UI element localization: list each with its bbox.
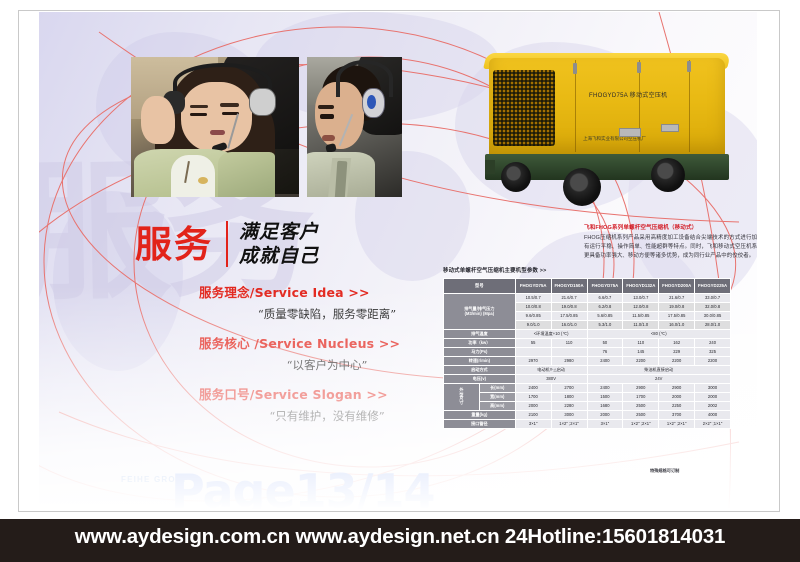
table-cell: 1800 [551,393,587,402]
table-cell: 2400 [587,357,623,366]
table-header-cell: FHOGYD132A [623,279,659,294]
decorative-arcs [39,12,757,510]
table-cell: 55 [515,339,551,348]
table-row-label: 接口管径 [444,420,516,429]
table-cell: 110 [623,339,659,348]
table-cell: 10.0/0.8 [515,303,551,312]
table-cell: 2×2" ;1×1" [695,420,731,429]
table-cell: 5.6/0.85 [587,312,623,321]
table-cell: 2400 [515,384,551,393]
table-cell: 2000 [515,402,551,411]
page-number: Page13/14 [171,464,434,510]
table-cell: 11.5/0.85 [623,312,659,321]
table-row-label: 功率（kw） [444,339,516,348]
table-cell: 2500 [623,402,659,411]
table-row-label: 宽(mm) [479,393,515,402]
table-cell: 4000 [695,411,731,420]
table-row: 排气温度<环境温度+10 (℃)<80 (℃) [444,330,731,339]
table-row-label: 重量(kg) [444,411,516,420]
service-item: 服务核心 /Service Nucleus >> “以客户为中心” [199,333,449,382]
table-cell: 3000 [551,411,587,420]
table-cell: 110 [551,339,587,348]
service-subtitle-line2: 成就自己 [239,245,319,267]
service-title: 服务 [135,226,213,263]
table-row: 重量(kg)210030002000250037004000 [444,411,731,420]
table-header-cell: FHOGYD75A [515,279,551,294]
service-item: 服务理念/Service Idea >> “质量零缺陷，服务零距离” [199,282,449,331]
table-note: 特殊规格可订制 [650,468,679,474]
table-cell: 1×2" ;2×1" [551,420,587,429]
table-cell: 240 [695,339,731,348]
table-header-cell: FHOGYD150A [551,279,587,294]
table-cell: 2700 [551,384,587,393]
table-cell: <环境温度+10 (℃) [515,330,587,339]
table-row-label: 高(mm) [479,402,515,411]
table-cell: 2980 [551,357,587,366]
table-row: 功率（kw）5511050110162240 [444,339,731,348]
service-item-quote: “质量零缺陷，服务零距离” [199,301,449,331]
table-header-cell: FHOGYD200A [659,279,695,294]
compressor-product-image: FHOGYD75A 移动式空压机 上海飞和实业有限公司空压机厂 [471,50,757,215]
service-item-title: 服务理念/Service Idea >> [199,282,449,301]
spec-table: 型号FHOGYD75AFHOGYD150AFHOGYD75AFHOGYD132A… [443,278,731,429]
table-row: 宽(mm)170018001500170020002000 [444,393,731,402]
table-row-label: 马力(Ps) [444,348,516,357]
table-cell: 1700 [515,393,551,402]
table-header-model: 型号 [444,279,516,294]
table-row-label: 排气量/排气压力(M3/min) (Mpa) [444,294,516,330]
table-cell: 6.6/0.7 [587,294,623,303]
table-caption: 移动式单螺杆空气压缩机主要机型参数 >> [443,266,546,274]
table-row-label: 启动方式 [444,366,516,375]
table-cell: 19.0/0.8 [551,303,587,312]
table-header-cell: FHOGYD225A [695,279,731,294]
table-row: 排气量/排气压力(M3/min) (Mpa)10.5/0.721.6/0.76.… [444,294,731,303]
table-row-label: 排气温度 [444,330,516,339]
table-cell: 2500 [623,411,659,420]
table-cell: 19.0/0.8 [659,303,695,312]
table-row: 高(mm)200022801680250022502002 [444,402,731,411]
photo-female-agent [131,57,299,197]
table-cell: 17.5/0.85 [551,312,587,321]
table-cell: 28.0/1.0 [695,321,731,330]
table-cell: 76 [587,348,623,357]
feihe-group-logo: FEIHE GROUP [121,475,189,484]
table-cell: 1×2" ;2×1" [623,420,659,429]
table-cell: 17.5/0.85 [659,312,695,321]
table-cell: 145 [623,348,659,357]
table-row-label: 转速(r/min) [444,357,516,366]
table-cell: 16.0/1.0 [659,321,695,330]
table-cell: <80 (℃) [587,330,731,339]
table-cell: 2000 [695,393,731,402]
table-cell: 2400 [587,384,623,393]
table-cell: 1500 [587,393,623,402]
table-cell: 10.5/0.7 [515,294,551,303]
table-cell: 2900 [659,384,695,393]
table-cell: 24V [587,375,731,384]
table-cell: 6.2/0.8 [587,303,623,312]
product-title: 飞和FHOG系列单螺杆空气压缩机（移动式） [584,224,757,232]
table-cell: 9.0/1.0 [515,321,551,330]
table-row: 转速(r/min)297029802400220022002200 [444,357,731,366]
service-subtitle-line1: 满足客户 [239,221,319,243]
page-frame: 服务 [18,10,780,512]
brochure-page: 服务 [0,0,800,562]
service-heading: 服务 满足客户 成就自己 [135,220,319,269]
table-cell: 21.6/0.7 [551,294,587,303]
table-cell: 电动机Y-△启动 [515,366,587,375]
service-item-title: 服务核心 /Service Nucleus >> [199,333,449,352]
table-cell: 3700 [659,411,695,420]
table-cell: 2200 [659,357,695,366]
table-cell: 11.0/1.0 [623,321,659,330]
table-row: 马力(Ps)76145229325 [444,348,731,357]
table-cell: 2200 [623,357,659,366]
table-row: 外型尺寸长(mm)240027002400290029003000 [444,384,731,393]
service-item: 服务口号/Service Slogan >> “只有维护，没有维修” [199,384,449,433]
table-cell: 1700 [623,393,659,402]
table-cell: 柴油机直接启动 [587,366,731,375]
ghost-calligraphy: 服务 [39,159,310,302]
table-cell: 2970 [515,357,551,366]
table-cell [551,348,587,357]
product-paragraph: FHOG压缩机系列产品采用高精度加工设备结合尖端技术的方式进行加工，具有运行平稳… [584,234,757,260]
table-cell: 2100 [515,411,551,420]
table-cell: 1×2" ;2×1" [659,420,695,429]
table-row: 启动方式电动机Y-△启动柴油机直接启动 [444,366,731,375]
table-cell: 162 [659,339,695,348]
table-cell: 33.0/0.7 [695,294,731,303]
table-cell: 9.6/0.85 [515,312,551,321]
table-cell: 32.0/0.8 [695,303,731,312]
table-cell: 2000 [587,411,623,420]
table-cell: 1680 [587,402,623,411]
service-item-quote: “以客户为中心” [199,352,449,382]
table-cell: 16.0/1.0 [551,321,587,330]
table-cell: 13.0/0.7 [623,294,659,303]
table-cell: 2200 [695,357,731,366]
table-cell: 3×1" [515,420,551,429]
table-cell: 3×1" [587,420,623,429]
table-cell: 2280 [551,402,587,411]
service-subtitle: 满足客户 成就自己 [239,220,319,269]
footer-banner-text: www.aydesign.com.cn www.aydesign.net.cn … [0,525,800,549]
heading-divider [226,221,228,267]
table-header-cell: FHOGYD75A [587,279,623,294]
machine-maker-label: 上海飞和实业有限公司空压机厂 [583,136,646,142]
table-row-label: 电压(v) [444,375,516,384]
table-cell: 2900 [623,384,659,393]
product-description: 飞和FHOG系列单螺杆空气压缩机（移动式） FHOG压缩机系列产品采用高精度加工… [584,224,757,261]
table-row-label: 长(mm) [479,384,515,393]
table-row: 电压(v)380V24V [444,375,731,384]
table-cell: 380V [515,375,587,384]
service-item-title: 服务口号/Service Slogan >> [199,384,449,403]
table-cell: 12.0/0.8 [623,303,659,312]
service-item-quote: “只有维护，没有维修” [199,403,449,433]
world-map-backdrop [39,12,757,510]
table-cell: 5.3/1.0 [587,321,623,330]
table-cell: 325 [695,348,731,357]
table-cell: 2000 [659,393,695,402]
table-row: 接口管径3×1"1×2" ;2×1"3×1"1×2" ;2×1"1×2" ;2×… [444,420,731,429]
table-cell: 3000 [695,384,731,393]
machine-model-label: FHOGYD75A 移动式空压机 [589,90,667,99]
table-cell: 229 [659,348,695,357]
service-list: 服务理念/Service Idea >> “质量零缺陷，服务零距离” 服务核心 … [199,282,449,435]
photo-male-agent [307,57,402,197]
artwork-panel: 服务 [39,12,757,510]
table-row-label-dimensions: 外型尺寸 [444,384,480,411]
table-cell: 30.0/0.85 [695,312,731,321]
table-cell: 50 [587,339,623,348]
table-row: 型号FHOGYD75AFHOGYD150AFHOGYD75AFHOGYD132A… [444,279,731,294]
table-cell: 21.6/0.7 [659,294,695,303]
table-cell: 2002 [695,402,731,411]
table-cell [515,348,551,357]
table-cell: 2250 [659,402,695,411]
